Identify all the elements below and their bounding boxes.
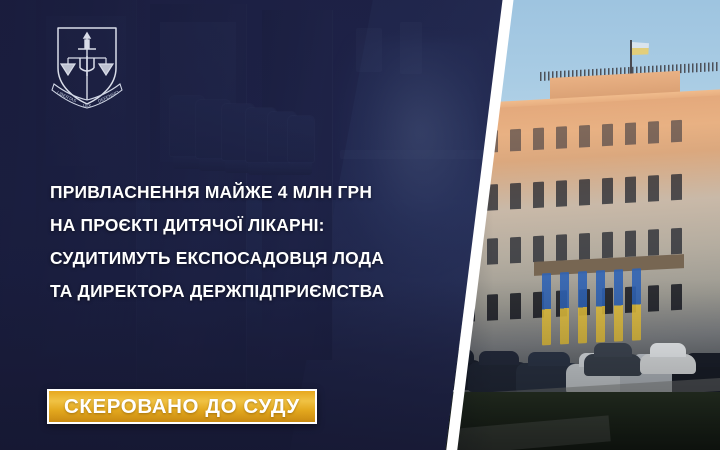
prosecutor-emblem-icon: LIBERTAS LEX DEFENSIO [44, 18, 130, 118]
headline: ПРИВЛАСНЕННЯ МАЙЖЕ 4 МЛН ГРН НА ПРОЄКТІ … [50, 176, 450, 308]
news-card: LIBERTAS LEX DEFENSIO ПРИВЛАСНЕННЯ МАЙЖЕ… [0, 0, 720, 450]
ribbon-text-center: LEX [83, 103, 91, 108]
headline-line-4: ТА ДИРЕКТОРА ДЕРЖПІДПРИЄМСТВА [50, 275, 450, 308]
headline-line-1: ПРИВЛАСНЕННЯ МАЙЖЕ 4 МЛН ГРН [50, 176, 450, 209]
ukrainian-flag-icon [632, 42, 649, 55]
headline-line-2: НА ПРОЄКТІ ДИТЯЧОЇ ЛІКАРНІ: [50, 209, 450, 242]
car [584, 354, 642, 376]
headline-line-3: СУДИТИМУТЬ ЕКСПОСАДОВЦЯ ЛОДА [50, 242, 450, 275]
status-badge-label: СКЕРОВАНО ДО СУДУ [64, 395, 300, 419]
status-badge: СКЕРОВАНО ДО СУДУ [47, 389, 317, 424]
car [640, 354, 696, 374]
